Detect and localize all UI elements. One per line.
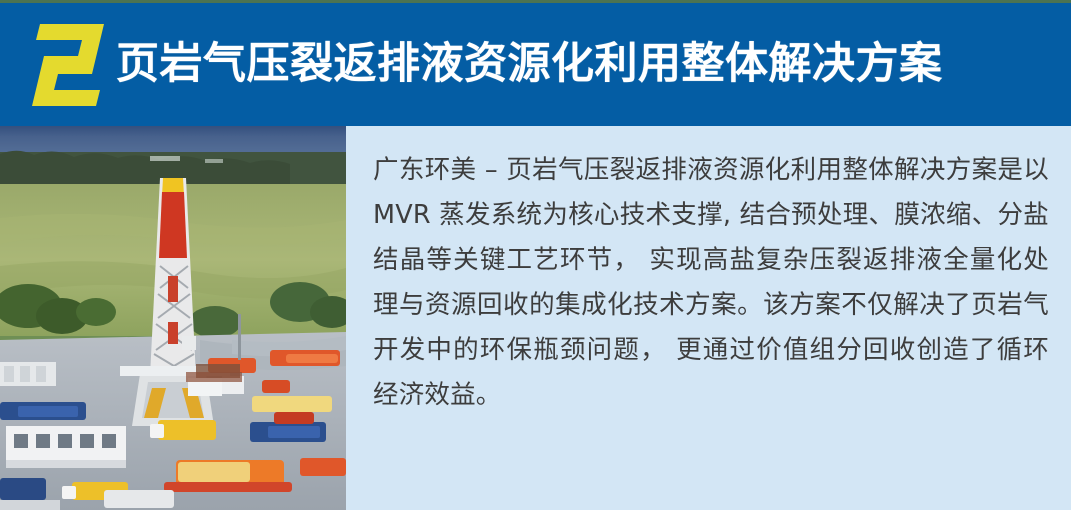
content-area: 广东环美 – 页岩气压裂返排液资源化利用整体解决方案是以 MVR 蒸发系统为核心… (0, 126, 1071, 510)
section-number-2 (30, 22, 108, 108)
solution-description: 广东环美 – 页岩气压裂返排液资源化利用整体解决方案是以 MVR 蒸发系统为核心… (373, 148, 1049, 418)
section-header-banner: 页岩气压裂返排液资源化利用整体解决方案 (0, 3, 1071, 126)
drilling-rig-photo (0, 126, 346, 510)
page-title: 页岩气压裂返排液资源化利用整体解决方案 (116, 43, 943, 86)
